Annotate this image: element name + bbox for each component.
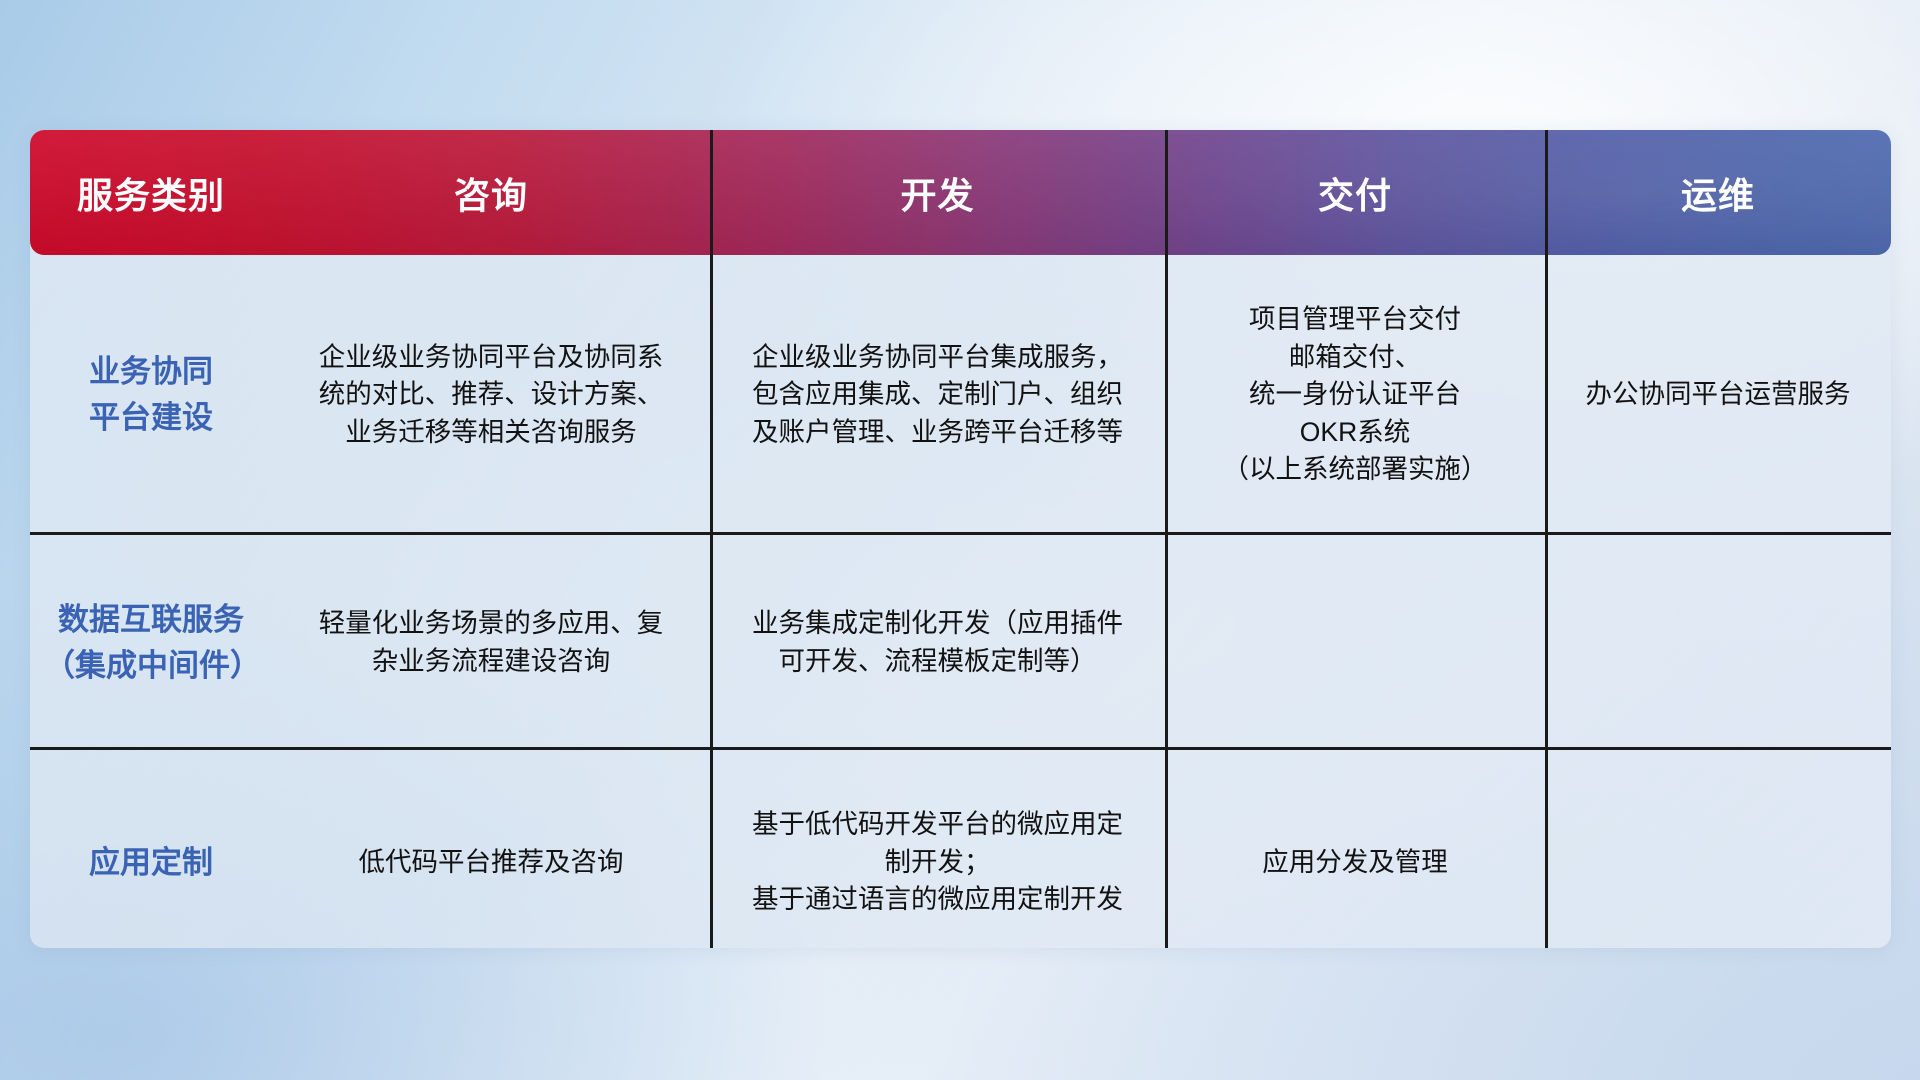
cell-category: 数据互联服务 （集成中间件） <box>30 535 272 750</box>
cell-consulting: 低代码平台推荐及咨询 <box>272 750 710 948</box>
table-body: 业务协同 平台建设 企业级业务协同平台及协同系 统的对比、推荐、设计方案、 业务… <box>30 255 1891 948</box>
column-header-operations: 运维 <box>1545 167 1891 219</box>
cell-text: 低代码平台推荐及咨询 <box>359 844 624 882</box>
table-header-row: 服务类别 咨询 开发 交付 运维 <box>30 130 1891 255</box>
category-label: 数据互联服务 （集成中间件） <box>44 597 258 689</box>
cell-consulting: 轻量化业务场景的多应用、复 杂业务流程建设咨询 <box>272 535 710 750</box>
service-matrix-table: 服务类别 咨询 开发 交付 运维 业务协同 平台建设 企业级业务协同平台及协同系… <box>30 130 1891 948</box>
column-header-category: 服务类别 <box>30 167 272 219</box>
cell-development: 企业级业务协同平台集成服务， 包含应用集成、定制门户、组织 及账户管理、业务跨平… <box>710 255 1165 535</box>
cell-development: 业务集成定制化开发（应用插件 可开发、流程模板定制等） <box>710 535 1165 750</box>
cell-text: 应用分发及管理 <box>1262 844 1448 882</box>
cell-text: 办公协同平台运营服务 <box>1586 376 1851 414</box>
cell-operations <box>1545 750 1891 948</box>
cell-text: 项目管理平台交付 邮箱交付、 统一身份认证平台 OKR系统 （以上系统部署实施） <box>1223 301 1488 489</box>
category-label: 业务协同 平台建设 <box>89 349 213 441</box>
column-header-development: 开发 <box>710 167 1165 219</box>
table-row: 业务协同 平台建设 企业级业务协同平台及协同系 统的对比、推荐、设计方案、 业务… <box>30 255 1891 535</box>
table-row: 数据互联服务 （集成中间件） 轻量化业务场景的多应用、复 杂业务流程建设咨询 业… <box>30 535 1891 750</box>
table-row: 应用定制 低代码平台推荐及咨询 基于低代码开发平台的微应用定 制开发； 基于通过… <box>30 750 1891 948</box>
cell-text: 业务集成定制化开发（应用插件 可开发、流程模板定制等） <box>752 605 1123 680</box>
cell-delivery: 应用分发及管理 <box>1165 750 1545 948</box>
cell-development: 基于低代码开发平台的微应用定 制开发； 基于通过语言的微应用定制开发 <box>710 750 1165 948</box>
cell-delivery: 项目管理平台交付 邮箱交付、 统一身份认证平台 OKR系统 （以上系统部署实施） <box>1165 255 1545 535</box>
column-header-consulting: 咨询 <box>272 167 710 219</box>
category-label: 应用定制 <box>89 840 213 886</box>
cell-text: 企业级业务协同平台集成服务， 包含应用集成、定制门户、组织 及账户管理、业务跨平… <box>752 339 1123 452</box>
cell-category: 应用定制 <box>30 750 272 948</box>
cell-delivery <box>1165 535 1545 750</box>
column-header-delivery: 交付 <box>1165 167 1545 219</box>
cell-operations <box>1545 535 1891 750</box>
cell-consulting: 企业级业务协同平台及协同系 统的对比、推荐、设计方案、 业务迁移等相关咨询服务 <box>272 255 710 535</box>
cell-operations: 办公协同平台运营服务 <box>1545 255 1891 535</box>
cell-text: 企业级业务协同平台及协同系 统的对比、推荐、设计方案、 业务迁移等相关咨询服务 <box>319 339 664 452</box>
cell-text: 轻量化业务场景的多应用、复 杂业务流程建设咨询 <box>319 605 664 680</box>
cell-category: 业务协同 平台建设 <box>30 255 272 535</box>
cell-text: 基于低代码开发平台的微应用定 制开发； 基于通过语言的微应用定制开发 <box>752 806 1123 919</box>
